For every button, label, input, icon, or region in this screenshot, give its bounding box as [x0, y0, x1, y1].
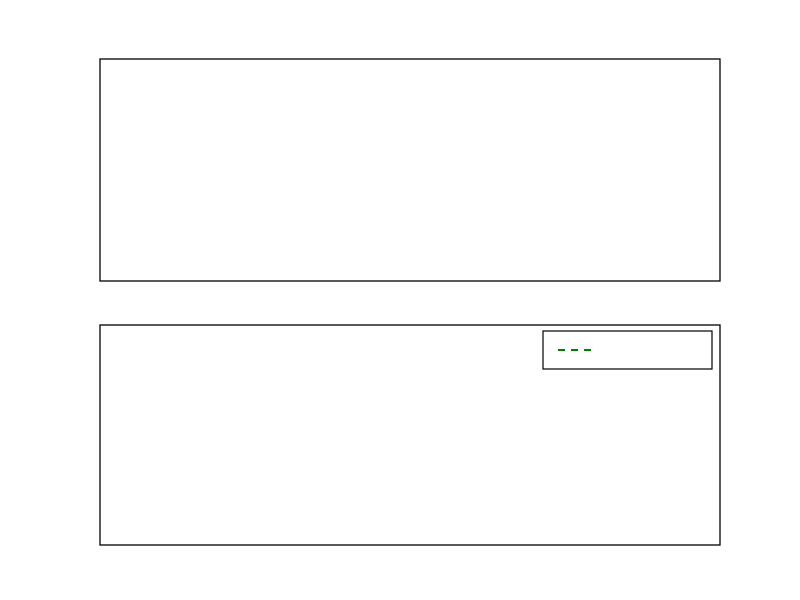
legend[interactable]: [543, 331, 712, 369]
matplotlib-figure: [0, 0, 800, 600]
legend-box: [543, 331, 712, 369]
figure-canvas: [0, 0, 800, 600]
figure-background: [0, 0, 800, 600]
